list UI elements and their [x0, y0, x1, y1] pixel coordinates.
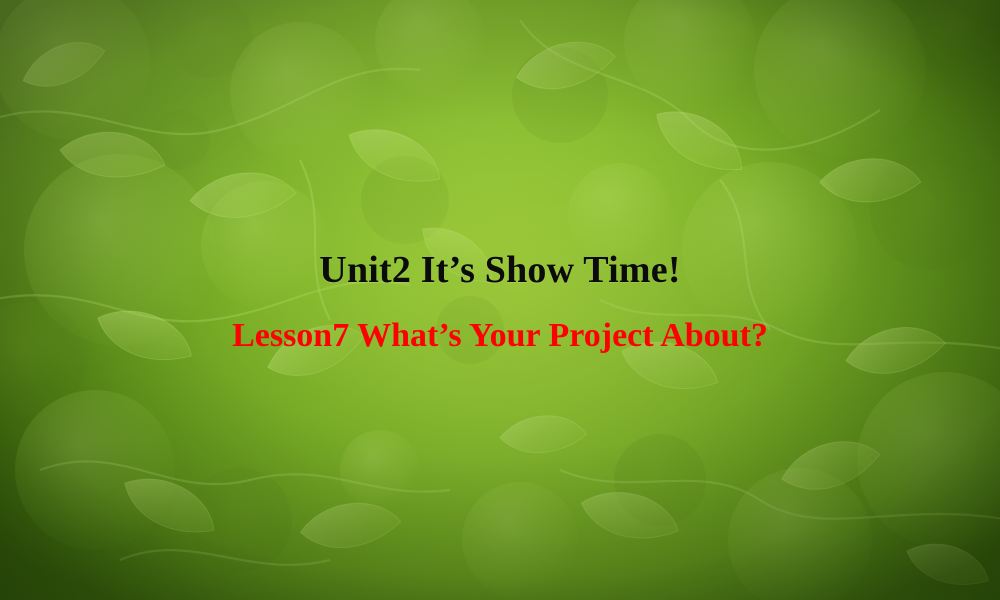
slide-text-block: Unit2 It’s Show Time! Lesson7 What’s You…: [0, 248, 1000, 356]
slide-subtitle: Lesson7 What’s Your Project About?: [180, 315, 820, 356]
slide-title: Unit2 It’s Show Time!: [0, 248, 1000, 293]
presentation-slide: Unit2 It’s Show Time! Lesson7 What’s You…: [0, 0, 1000, 600]
